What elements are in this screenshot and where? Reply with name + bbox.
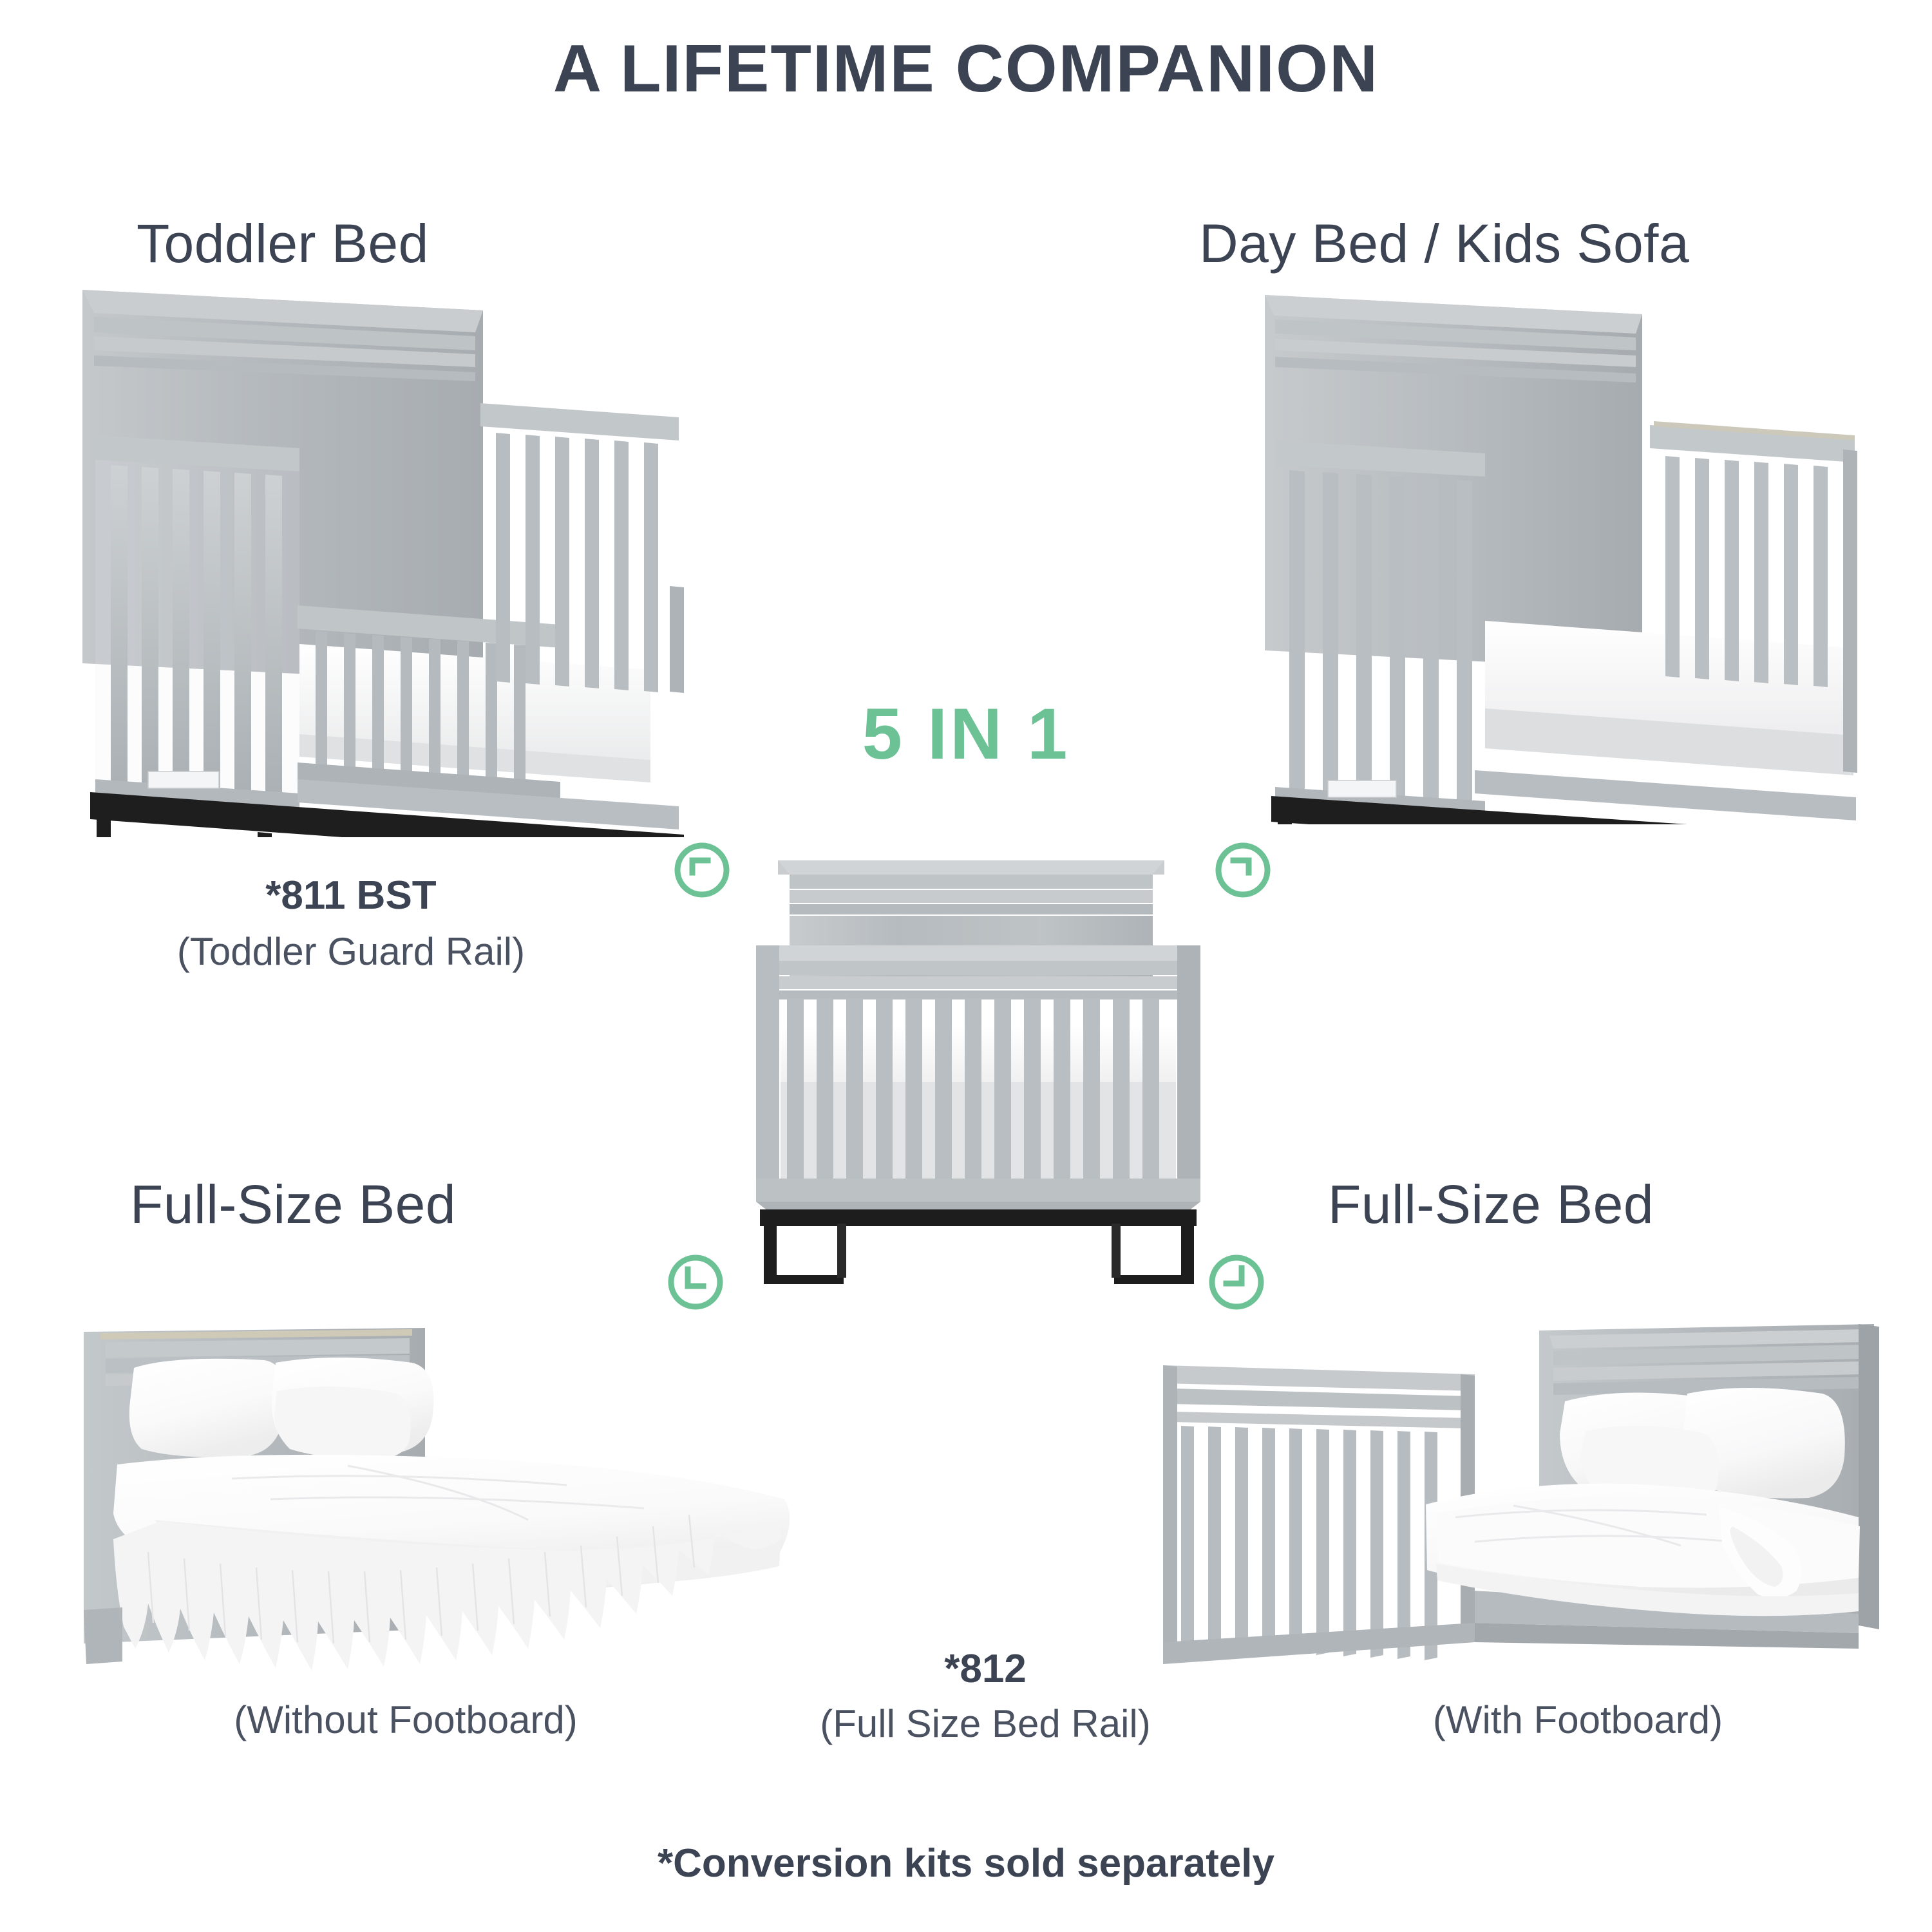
corner-bl-icon bbox=[665, 1251, 726, 1313]
heading-day-bed: Day Bed / Kids Sofa bbox=[1199, 213, 1689, 275]
heading-full-size-bed-left: Full-Size Bed bbox=[130, 1173, 456, 1236]
page-title: A LIFETIME COMPANION bbox=[0, 31, 1932, 108]
corner-tr-icon bbox=[1212, 839, 1274, 901]
full-size-bed-with-footboard-image bbox=[1153, 1320, 1926, 1700]
corner-tl-icon bbox=[671, 839, 733, 901]
full-bed-rail-code-description: (Full Size Bed Rail) bbox=[721, 1701, 1249, 1746]
full-bed-right-caption: (With Footboard) bbox=[1224, 1698, 1932, 1742]
heading-toddler-bed: Toddler Bed bbox=[137, 213, 429, 275]
infographic-page: A LIFETIME COMPANION Toddler Bed Day Bed… bbox=[0, 0, 1932, 1932]
heading-full-size-bed-right: Full-Size Bed bbox=[1328, 1173, 1654, 1236]
toddler-bed-code-label: *811 BST bbox=[0, 873, 702, 918]
full-bed-left-caption: (Without Footboard) bbox=[39, 1698, 773, 1742]
full-size-bed-without-footboard-image bbox=[77, 1327, 837, 1700]
five-in-one-badge: 5 IN 1 bbox=[0, 692, 1932, 775]
convertible-crib-image bbox=[741, 837, 1217, 1288]
toddler-bed-code-description: (Toddler Guard Rail) bbox=[0, 929, 702, 974]
footer-disclaimer: *Conversion kits sold separately bbox=[0, 1841, 1932, 1886]
